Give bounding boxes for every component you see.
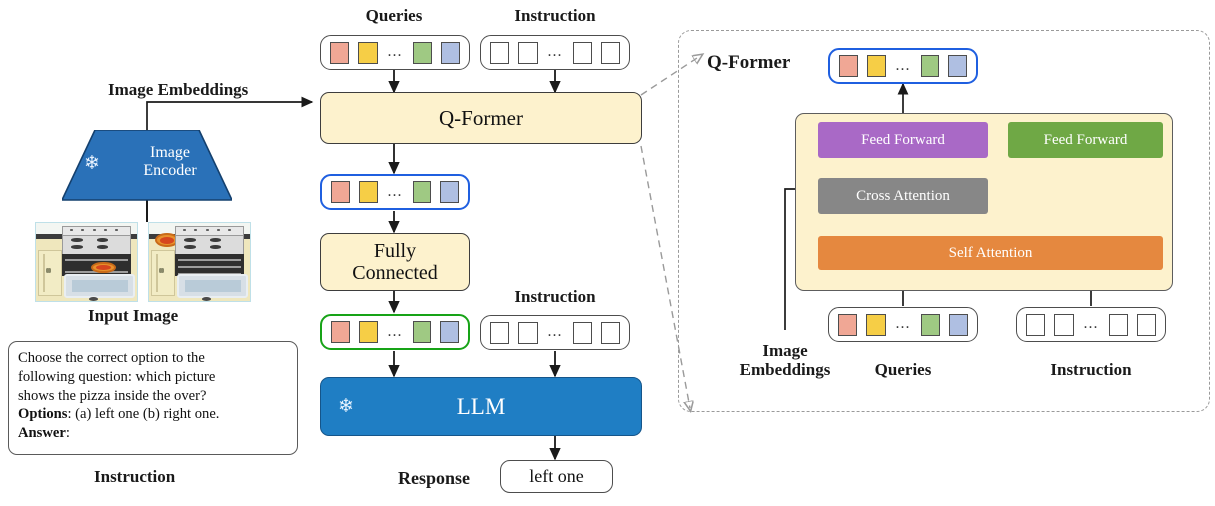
input-thumbnail-right[interactable] [148, 222, 251, 302]
image-encoder-label: Image Encoder [120, 144, 220, 180]
feed-forward-left-block[interactable]: Feed Forward [818, 122, 988, 158]
oven-knob [228, 229, 231, 230]
instruction-options-text: : (a) left one (b) right one. [67, 406, 219, 422]
instruction-answer-text: : [66, 425, 70, 441]
fully-connected-line1: Fully [374, 240, 416, 262]
llm-label: LLM [457, 394, 506, 420]
query-token [413, 321, 432, 343]
q-former-box[interactable]: Q-Former [320, 92, 642, 144]
oven-burner [184, 245, 195, 248]
oven-knob [115, 229, 118, 230]
query-token [330, 42, 349, 64]
ellipsis: ... [1083, 321, 1100, 327]
fully-connected-box[interactable]: Fully Connected [320, 233, 470, 291]
query-token [440, 181, 459, 203]
oven-door-glass [72, 280, 128, 293]
oven-rack [178, 259, 241, 261]
oven-cabinet [151, 250, 175, 297]
instruction-token [601, 42, 620, 64]
query-token [413, 42, 432, 64]
instruction-line-2: following question: which picture [18, 368, 288, 387]
query-token [866, 314, 885, 336]
oven-backsplash [176, 227, 243, 236]
instruction-token [601, 322, 620, 344]
oven-burner [71, 238, 82, 241]
ellipsis: ... [387, 189, 404, 195]
instruction-label-middle-mid: Instruction [490, 287, 620, 306]
queries-token-strip-middle[interactable]: ... [320, 35, 470, 70]
ellipsis: ... [387, 329, 404, 335]
image-embeddings-line2: Embeddings [722, 360, 848, 379]
image-embeddings-label-right: Image Embeddings [722, 341, 848, 379]
instruction-line-3: shows the pizza inside the over? [18, 387, 288, 406]
oven-door [64, 274, 135, 298]
instruction-token [573, 322, 592, 344]
instruction-line-1: Choose the correct option to the [18, 349, 288, 368]
cross-attention-block[interactable]: Cross Attention [818, 178, 988, 214]
instruction-answer-label: Answer [18, 425, 66, 441]
oven-door-glass [185, 280, 241, 293]
response-label: Response [398, 468, 470, 488]
instruction-token [1026, 314, 1045, 336]
oven-knob [81, 229, 84, 230]
instruction-caption-left: Instruction [94, 467, 175, 486]
query-token [413, 181, 432, 203]
query-token [331, 181, 350, 203]
oven-knob [70, 229, 73, 230]
oven-door [177, 274, 248, 298]
queries-token-strip-right[interactable]: ... [828, 307, 978, 342]
instruction-token [573, 42, 592, 64]
ellipsis: ... [895, 63, 912, 69]
input-image-label: Input Image [88, 306, 178, 325]
instruction-token [518, 42, 537, 64]
query-token [440, 321, 459, 343]
ellipsis: ... [547, 49, 564, 55]
image-encoder-label-line2: Encoder [120, 162, 220, 180]
image-encoder-block[interactable]: ❄ Image Encoder [62, 130, 232, 202]
oven-cabinet-handle [48, 268, 51, 272]
query-token [921, 55, 940, 77]
image-encoder-label-line1: Image [120, 144, 220, 162]
oven-rack [178, 266, 241, 268]
query-token [921, 314, 940, 336]
oven-foot [202, 297, 211, 301]
oven-backsplash [63, 227, 130, 236]
image-embeddings-line1: Image [722, 341, 848, 360]
query-token [838, 314, 857, 336]
oven-cavity [62, 254, 131, 276]
query-token [441, 42, 460, 64]
oven-cabinet-handle [161, 268, 164, 272]
ellipsis: ... [387, 49, 404, 55]
oven-burner [97, 238, 108, 241]
oven-knob [206, 229, 209, 230]
oven-cabinet-line [156, 254, 158, 292]
instruction-token [490, 322, 509, 344]
oven-cabinet-line [43, 254, 45, 292]
instruction-token-strip-right[interactable]: ... [1016, 307, 1166, 342]
instruction-options-row: Options: (a) left one (b) right one. [18, 405, 288, 424]
oven-knob [93, 229, 96, 230]
oven-range [62, 226, 131, 255]
oven-burner [210, 238, 221, 241]
instruction-label-middle-top: Instruction [490, 6, 620, 25]
llm-input-token-strip[interactable]: ... [320, 314, 470, 350]
instruction-token [518, 322, 537, 344]
oven-cavity [175, 254, 244, 276]
oven-range [175, 226, 244, 255]
ellipsis: ... [547, 329, 564, 335]
input-thumbnail-left[interactable] [35, 222, 138, 302]
query-token [949, 314, 968, 336]
llm-box[interactable]: ❄ LLM [320, 377, 642, 436]
query-token [867, 55, 886, 77]
snowflake-icon: ❄ [84, 154, 100, 173]
oven-burner [210, 245, 221, 248]
image-embeddings-label: Image Embeddings [108, 80, 248, 99]
instruction-options-label: Options [18, 406, 67, 422]
query-token [359, 321, 378, 343]
oven-knob [194, 229, 197, 230]
oven-knob [104, 229, 107, 230]
instruction-token [1054, 314, 1073, 336]
oven-foot [89, 297, 98, 301]
q-former-panel-title: Q-Former [707, 52, 790, 73]
query-token [839, 55, 858, 77]
oven-cabinet [38, 250, 62, 297]
oven-rack [65, 259, 128, 261]
instruction-token-strip-middle-top[interactable]: ... [480, 35, 630, 70]
response-box[interactable]: left one [500, 460, 613, 493]
pizza-inner [160, 237, 175, 244]
oven-burner [97, 245, 108, 248]
oven-burner [71, 245, 82, 248]
instruction-label-right: Instruction [1026, 360, 1156, 379]
qformer-output-token-strip[interactable]: ... [320, 174, 470, 210]
query-token [358, 42, 377, 64]
pizza-inner [96, 265, 111, 270]
q-former-output-token-strip-right[interactable]: ... [828, 48, 978, 84]
query-token [331, 321, 350, 343]
self-attention-block[interactable]: Self Attention [818, 236, 1163, 270]
instruction-token-strip-middle-mid[interactable]: ... [480, 315, 630, 350]
fully-connected-line2: Connected [352, 262, 438, 284]
query-token [359, 181, 378, 203]
oven-burner [184, 238, 195, 241]
snowflake-icon: ❄ [338, 397, 354, 416]
feed-forward-right-block[interactable]: Feed Forward [1008, 122, 1163, 158]
instruction-token [1109, 314, 1128, 336]
oven-knob [217, 229, 220, 230]
queries-label-middle: Queries [348, 6, 440, 25]
diagram-canvas: Image Embeddings ❄ Image Encoder [0, 0, 1215, 506]
instruction-card[interactable]: Choose the correct option to the followi… [8, 341, 298, 455]
instruction-answer-row: Answer: [18, 424, 288, 443]
query-token [948, 55, 967, 77]
oven-knob [183, 229, 186, 230]
instruction-token [1137, 314, 1156, 336]
ellipsis: ... [895, 321, 912, 327]
instruction-token [490, 42, 509, 64]
queries-label-right: Queries [857, 360, 949, 379]
